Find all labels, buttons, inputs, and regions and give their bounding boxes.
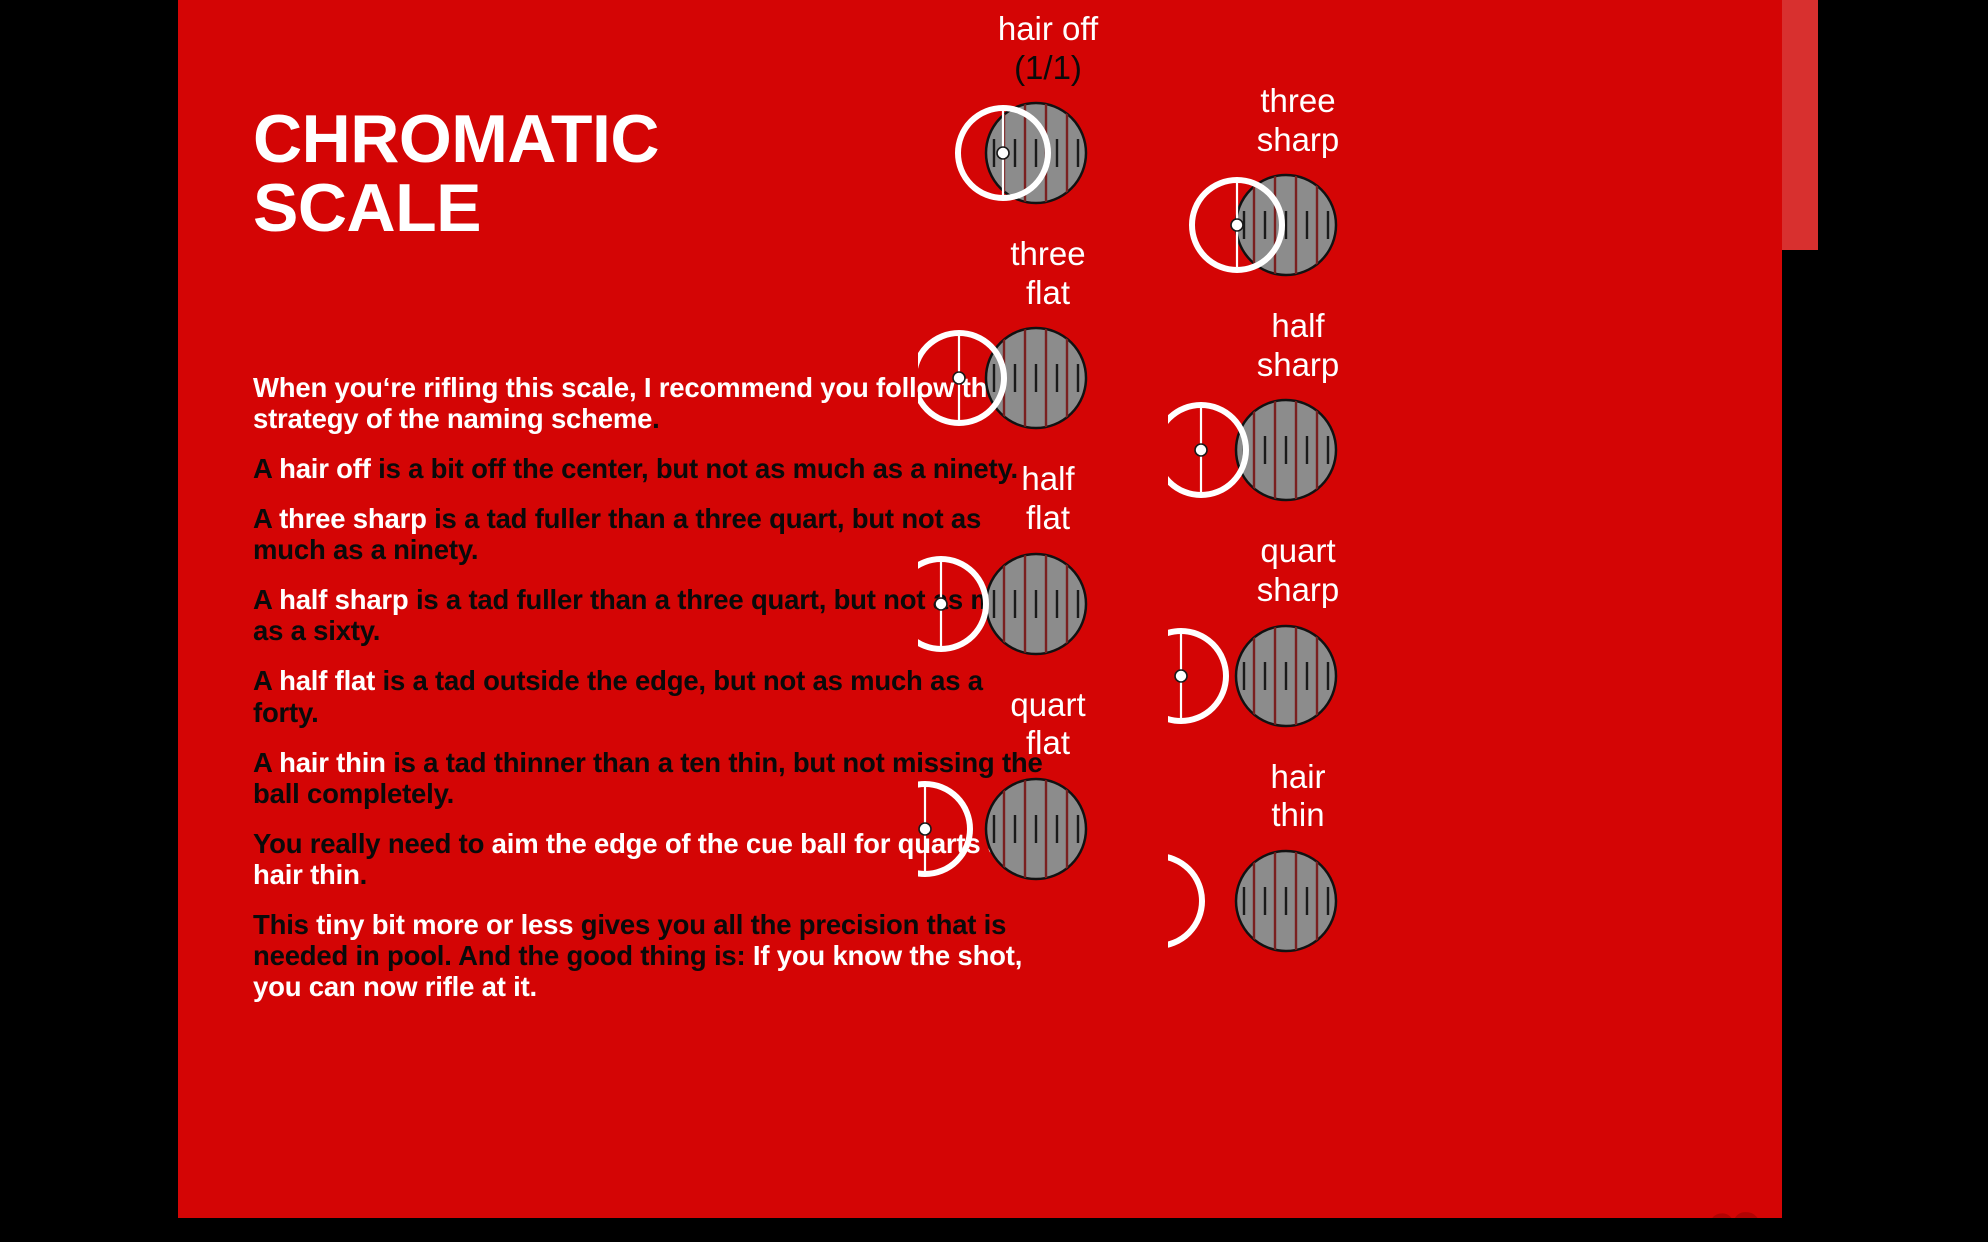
diagram-column-sharp: threesharphalfsharpquartsharphairthin	[1168, 82, 1428, 983]
text-run: half sharp	[279, 584, 408, 615]
diagram-group-hair-thin: hairthin	[1168, 758, 1428, 961]
diagram-label-line-1: quart	[1260, 532, 1335, 569]
diagram-label-line-2: flat	[918, 724, 1178, 763]
diagram-group-quart-sharp: quartsharp	[1168, 532, 1428, 735]
ball-diagram-hair-thin	[1168, 841, 1428, 961]
text-run: .	[360, 859, 367, 890]
page-number: 28	[1700, 1210, 1772, 1218]
page-title-line-1: CHROMATIC	[253, 105, 1013, 174]
presentation-slide: CHROMATIC SCALE When you‘re rifling this…	[178, 0, 1782, 1218]
diagram-label-three-flat: threeflat	[918, 235, 1178, 312]
text-run: A	[253, 503, 279, 534]
diagram-group-half-flat: halfflat	[918, 460, 1178, 663]
text-run: tiny bit more or less	[316, 909, 573, 940]
diagram-label-half-sharp: halfsharp	[1168, 307, 1428, 384]
diagram-label-line-1: three	[1260, 82, 1335, 119]
diagram-label-hair-off: hair off(1/1)	[918, 10, 1178, 87]
diagram-label-line-2: (1/1)	[918, 49, 1178, 88]
text-run: A	[253, 453, 279, 484]
text-run: This	[253, 909, 316, 940]
diagram-column-flat: hair off(1/1)threeflathalfflatquartflat	[918, 10, 1178, 911]
diagram-group-quart-flat: quartflat	[918, 686, 1178, 889]
diagram-label-line-2: flat	[918, 274, 1178, 313]
screenshot-root: CHROMATIC SCALE When you‘re rifling this…	[0, 0, 1988, 1242]
diagram-label-line-2: sharp	[1168, 571, 1428, 610]
diagram-group-half-sharp: halfsharp	[1168, 307, 1428, 510]
text-run: hair off	[279, 453, 371, 484]
diagram-label-line-1: hair	[1270, 758, 1325, 795]
diagram-label-line-1: half	[1021, 460, 1074, 497]
diagram-label-line-1: hair off	[998, 10, 1098, 47]
text-run: .	[652, 403, 659, 434]
ball-diagram-half-sharp	[1168, 390, 1428, 510]
diagram-group-three-sharp: threesharp	[1168, 82, 1428, 285]
page-title: CHROMATIC SCALE	[253, 105, 1013, 244]
diagram-label-three-sharp: threesharp	[1168, 82, 1428, 159]
ball-diagram-quart-sharp	[1168, 616, 1428, 736]
diagram-label-line-1: quart	[1010, 686, 1085, 723]
diagram-label-hair-thin: hairthin	[1168, 758, 1428, 835]
scrollbar-thumb[interactable]	[1782, 0, 1818, 250]
diagram-label-line-2: thin	[1168, 796, 1428, 835]
diagram-group-three-flat: threeflat	[918, 235, 1178, 438]
diagram-label-half-flat: halfflat	[918, 460, 1178, 537]
ball-diagram-half-flat	[918, 544, 1178, 664]
text-run: When you‘re rifling this scale, I recomm…	[253, 372, 1002, 434]
ball-diagram-three-sharp	[1168, 165, 1428, 285]
paragraph-p8: This tiny bit more or less gives you all…	[253, 909, 1053, 1002]
diagram-label-quart-sharp: quartsharp	[1168, 532, 1428, 609]
diagram-label-quart-flat: quartflat	[918, 686, 1178, 763]
text-run: half flat	[279, 665, 375, 696]
diagram-label-line-2: sharp	[1168, 121, 1428, 160]
text-run: A	[253, 665, 279, 696]
ball-diagram-hair-off	[918, 93, 1178, 213]
text-run: You really need to	[253, 828, 492, 859]
page-title-line-2: SCALE	[253, 174, 1013, 243]
diagram-label-line-2: sharp	[1168, 346, 1428, 385]
ball-diagram-quart-flat	[918, 769, 1178, 889]
text-run: A	[253, 747, 279, 778]
text-run: A	[253, 584, 279, 615]
text-run: three sharp	[279, 503, 427, 534]
ball-diagram-three-flat	[918, 318, 1178, 438]
text-run: hair thin	[279, 747, 386, 778]
diagram-group-hair-off: hair off(1/1)	[918, 10, 1178, 213]
diagram-label-line-1: three	[1010, 235, 1085, 272]
diagram-label-line-2: flat	[918, 499, 1178, 538]
diagram-label-line-1: half	[1271, 307, 1324, 344]
